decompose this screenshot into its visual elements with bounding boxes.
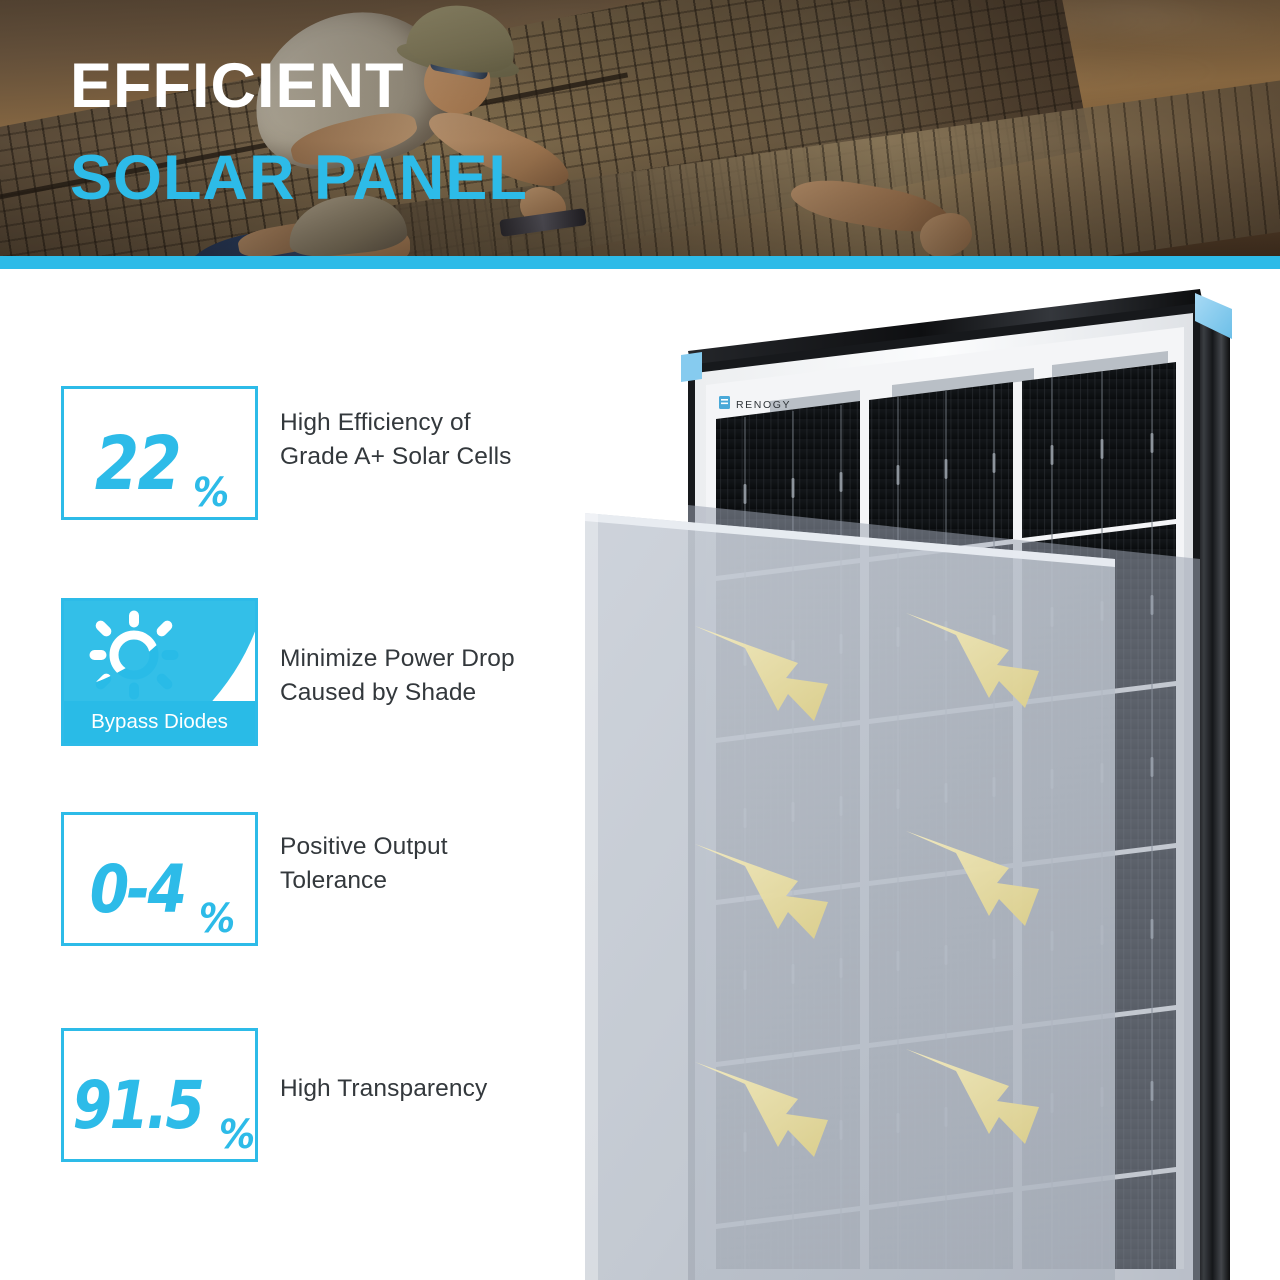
feature-item-bypass-diodes: Bypass Diodes Minimize Power Drop Caused… bbox=[61, 598, 515, 746]
solar-panel-svg: RENOGY bbox=[540, 269, 1280, 1280]
hero-title-block: EFFICIENT SOLAR PANEL bbox=[70, 52, 528, 212]
renogy-logo-icon bbox=[719, 396, 730, 409]
hero-title-line1: EFFICIENT bbox=[70, 52, 528, 120]
panel-brand-label: RENOGY bbox=[736, 399, 791, 411]
feature-text-line1: Positive Output bbox=[280, 830, 448, 864]
hero-accent-divider bbox=[0, 256, 1280, 269]
corner-accent-left bbox=[681, 352, 702, 382]
stat-number: 91.5 bbox=[73, 1069, 203, 1143]
feature-text-bypass-diodes: Minimize Power Drop Caused by Shade bbox=[280, 598, 515, 710]
stat-value-row: 22 % bbox=[88, 427, 231, 501]
sun-shade-artwork bbox=[64, 601, 255, 707]
stat-number: 0-4 bbox=[90, 853, 185, 927]
sun-with-shade-icon bbox=[72, 605, 248, 705]
stat-box-output-tolerance: 0-4 % bbox=[61, 812, 258, 946]
feature-item-output-tolerance: 0-4 % Positive Output Tolerance bbox=[61, 812, 448, 946]
feature-text-line1: High Efficiency of bbox=[280, 406, 511, 440]
feature-text-line2: Caused by Shade bbox=[280, 676, 515, 710]
frame-side-extrusion bbox=[1195, 312, 1230, 1280]
stat-value-row: 0-4 % bbox=[82, 853, 236, 927]
feature-text-line1: High Transparency bbox=[280, 1072, 487, 1106]
feature-item-efficiency: 22 % High Efficiency of Grade A+ Solar C… bbox=[61, 386, 511, 520]
hero-title-line2: SOLAR PANEL bbox=[70, 144, 528, 212]
percent-symbol: % bbox=[193, 473, 229, 513]
percent-symbol: % bbox=[219, 1115, 255, 1155]
badge-bypass-diodes: Bypass Diodes bbox=[64, 701, 255, 743]
feature-text-efficiency: High Efficiency of Grade A+ Solar Cells bbox=[280, 386, 511, 474]
stat-box-efficiency: 22 % bbox=[61, 386, 258, 520]
stat-number: 22 bbox=[95, 427, 180, 501]
infographic-page: EFFICIENT SOLAR PANEL 22 % High Efficien… bbox=[0, 0, 1280, 1280]
percent-symbol: % bbox=[199, 899, 235, 939]
feature-item-transparency: 91.5 % High Transparency bbox=[61, 1028, 487, 1162]
transparent-glass-sheet bbox=[585, 505, 1200, 1280]
feature-text-transparency: High Transparency bbox=[280, 1028, 487, 1106]
stat-box-transparency: 91.5 % bbox=[61, 1028, 258, 1162]
feature-text-line2: Tolerance bbox=[280, 864, 448, 898]
solar-panel-illustration: RENOGY bbox=[540, 269, 1280, 1280]
icon-box-bypass-diodes: Bypass Diodes bbox=[61, 598, 258, 746]
hero-banner: EFFICIENT SOLAR PANEL bbox=[0, 0, 1280, 256]
feature-text-line2: Grade A+ Solar Cells bbox=[280, 440, 511, 474]
feature-text-line1: Minimize Power Drop bbox=[280, 642, 515, 676]
feature-list: 22 % High Efficiency of Grade A+ Solar C… bbox=[0, 269, 560, 1280]
feature-text-output-tolerance: Positive Output Tolerance bbox=[280, 812, 448, 898]
stat-value-row: 91.5 % bbox=[62, 1069, 257, 1143]
